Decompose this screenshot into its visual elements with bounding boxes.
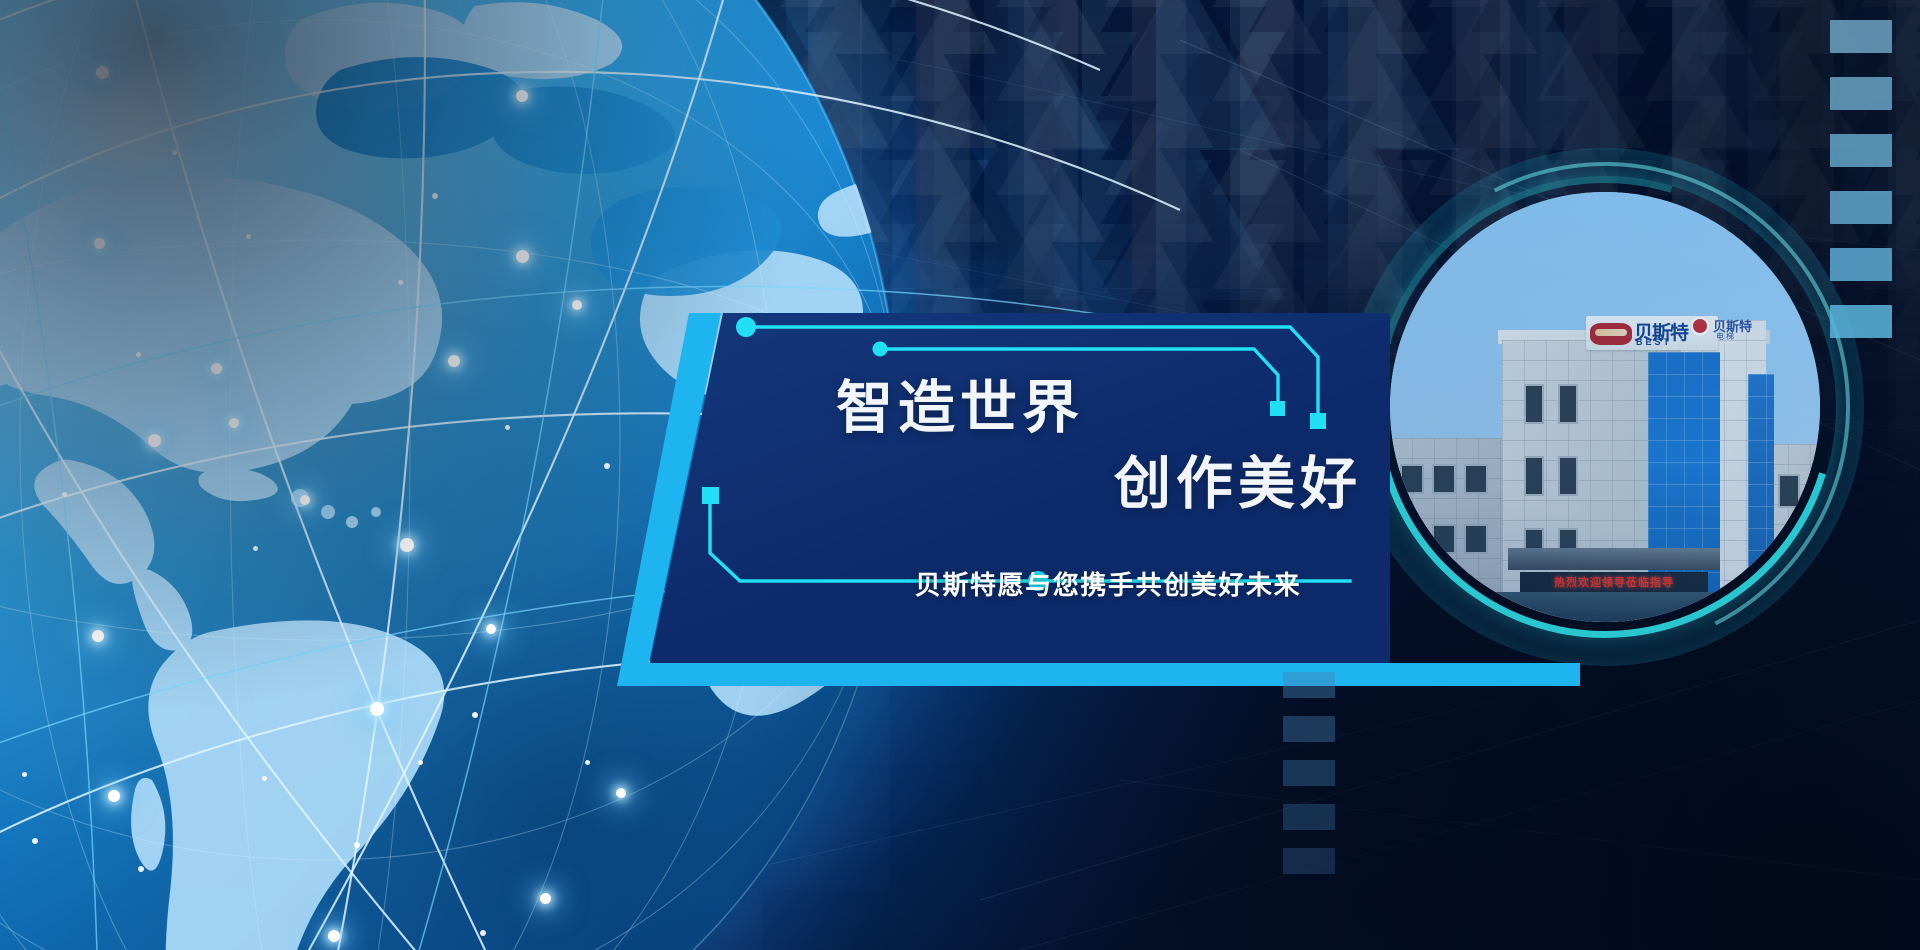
office-building-photo: 贝斯特 BEST 贝斯特 电梯 热烈欢迎领导莅临指导 xyxy=(1390,192,1820,622)
hero-banner: 贝斯特 BEST 贝斯特 电梯 热烈欢迎领导莅临指导 xyxy=(0,0,1920,950)
circuit-node-1 xyxy=(736,317,756,337)
circuit-node-4 xyxy=(702,487,719,504)
headline-line-2: 创作美好 xyxy=(836,450,1376,520)
circuit-node-2 xyxy=(873,342,888,357)
page-subtitle: 贝斯特愿与您携手共创美好未来 xyxy=(838,565,1378,602)
page-title: 智造世界 创作美好 xyxy=(836,374,1376,519)
decor-bar-stack-middle xyxy=(1283,672,1335,874)
building-photo-medallion: 贝斯特 BEST 贝斯特 电梯 热烈欢迎领导莅临指导 xyxy=(1390,192,1820,622)
decor-bar-stack-top-right xyxy=(1830,20,1892,338)
photo-color-tint xyxy=(1390,192,1820,622)
headline-line-1: 智造世界 xyxy=(836,374,1376,444)
